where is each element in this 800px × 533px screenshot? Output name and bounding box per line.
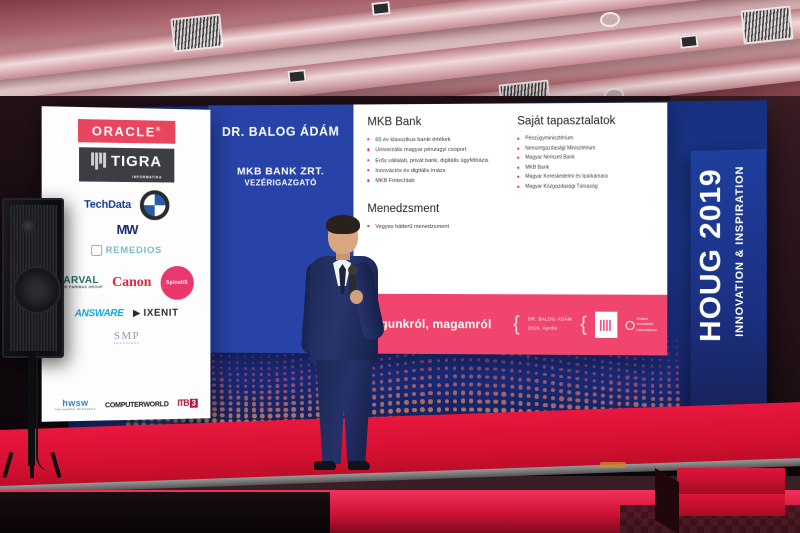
fintechlab-badge-text: Fintech Innovációs Laboratórium (637, 317, 657, 334)
sponsor-row-remedios: REMEDIOS (42, 245, 211, 256)
slide-footer-speaker: DR. BALOG ÁDÁM (528, 316, 572, 325)
speaker-trousers (316, 360, 372, 464)
houg-branding-panel: HOUG 2019 INNOVATION & INSPIRATION (691, 149, 766, 433)
woofer-icon (13, 266, 61, 314)
stage-step-upper (677, 468, 785, 494)
sponsor-row-arval-canon-spinalis: ARVAL BNP PARIBAS GROUP Canon SpinaliS (42, 266, 211, 300)
stage-steps (655, 468, 785, 530)
houg-title: HOUG 2019 (695, 168, 728, 342)
brace-icon: { (580, 313, 587, 336)
sponsor-row-answare-ixenit: ANSWARE IXENIT (42, 307, 211, 319)
oracle-label: ORACLE (92, 123, 156, 139)
sponsor-row-techdata-bmw: TechData (42, 189, 211, 220)
speaker-stand-pole (28, 356, 35, 466)
slide-speaker-organization: MKB BANK ZRT. (237, 164, 324, 178)
ceiling-downlight-icon (679, 34, 698, 49)
remedios-label: REMEDIOS (106, 245, 163, 256)
pa-loudspeaker (2, 198, 64, 358)
badge-line-3: Laboratórium (637, 328, 657, 334)
tigra-label: TIGRA (111, 153, 162, 171)
speaker-shoe (348, 461, 370, 470)
ceiling-downlight-icon (371, 1, 390, 16)
tweeter-icon (20, 218, 36, 234)
stage-step-side-panel (655, 468, 679, 533)
tigra-sub-label: INFORMATIKA (132, 175, 162, 179)
houg-subtitle: INNOVATION & INSPIRATION (734, 166, 746, 337)
list-item: Nemzetgazdasági Minisztérium (517, 144, 657, 154)
air-vent-icon (170, 13, 223, 52)
arval-sub-label: BNP PARIBAS GROUP (59, 286, 103, 290)
conference-stage-photo: DR. BALOG ÁDÁM MKB BANK ZRT. VEZÉRIGAZGA… (0, 0, 800, 533)
sponsor-logo-oracle: ORACLE® (78, 119, 176, 144)
sponsor-logo-answare: ANSWARE (75, 308, 124, 319)
section-heading-sajat-tapasztalatok: Saját tapasztalatok (517, 115, 657, 128)
speaker-hair (326, 215, 360, 234)
remedios-mark-icon (92, 245, 103, 256)
ceiling-downlight-icon (599, 11, 620, 28)
list-item: MKB Fintechlab (367, 176, 505, 187)
speaker-stand-legs (6, 452, 58, 478)
sponsor-logo-hwsw: hwsw Informatikai Hírmagazin (55, 399, 96, 412)
sponsor-logo-bmw (140, 190, 170, 220)
sponsor-logo-canon: Canon (112, 275, 151, 291)
brace-icon: { (513, 313, 520, 336)
list-item: Innovációs és digitális imázs (367, 166, 505, 177)
fintechlab-badge: Fintech Innovációs Laboratórium (625, 317, 657, 334)
section-heading-mkb-bank: MKB Bank (367, 116, 505, 129)
list-item: Magyar Közgazdasági Társaság (517, 182, 657, 192)
ceiling-downlight-icon (287, 69, 306, 84)
slide-content: MKB Bank 65 év klasszikus banki értékek … (353, 103, 667, 295)
gear-icon (625, 320, 634, 329)
air-vent-icon (740, 5, 793, 44)
bars-icon (92, 152, 106, 169)
list-item: Erős vállalati, privát bank, digitális ü… (367, 155, 505, 166)
section-heading-menedzsment: Menedzsment (367, 203, 505, 215)
speaker-shoe (314, 461, 336, 470)
sponsor-logo-ixenit: IXENIT (133, 308, 179, 319)
slide-column-right: Saját tapasztalatok Pénzügyminisztérium … (505, 115, 657, 295)
sponsor-logo-spinalis: SpinaliS (160, 266, 193, 300)
sponsor-logo-mw: MW (117, 222, 138, 237)
bullet-list-menedzsment: Vegyes hátterű menedzsment (367, 222, 505, 232)
mkb-logo-icon (595, 312, 617, 338)
sponsor-row-media: hwsw Informatikai Hírmagazin COMPUTERWOR… (42, 397, 211, 412)
speaker-person (300, 218, 386, 480)
bullet-list-sajat-tapasztalatok: Pénzügyminisztérium Nemzetgazdasági Mini… (517, 134, 657, 192)
ixenit-label: IXENIT (143, 308, 178, 319)
bullet-list-mkb-bank: 65 év klasszikus banki értékek Univerzál… (367, 135, 505, 187)
sponsor-logo-arval: ARVAL BNP PARIBAS GROUP (59, 276, 103, 290)
sponsor-row-mw: MW (42, 222, 211, 238)
hwsw-sub-label: Informatikai Hírmagazin (55, 408, 96, 412)
sponsor-logo-techdata: TechData (84, 199, 131, 211)
slide-speaker-name: DR. BALOG ÁDÁM (222, 125, 339, 139)
sponsor-logo-remedios: REMEDIOS (92, 245, 163, 256)
slide-footer-band: Magunkról, magamról { DR. BALOG ÁDÁM 201… (353, 294, 667, 356)
sponsor-logo-smp: SMP SOLUTIONS (114, 331, 141, 345)
list-item: Vegyes hátterű menedzsment (367, 222, 505, 232)
sponsor-logo-tigra: TIGRA INFORMATIKA (80, 147, 174, 182)
sponsor-logo-board: ORACLE® TIGRA INFORMATIKA TechData MW RE… (42, 106, 211, 422)
slide-footer-credits: DR. BALOG ÁDÁM 2019. Április (528, 316, 572, 334)
slide-footer-date: 2019. Április (528, 324, 572, 333)
floor-shadow (0, 492, 330, 533)
speaker-hand (350, 290, 363, 304)
sponsor-logo-computerworld: COMPUTERWORLD (105, 399, 169, 409)
presentation-slide: DR. BALOG ÁDÁM MKB BANK ZRT. VEZÉRIGAZGA… (208, 103, 667, 356)
registered-mark-icon: ® (156, 127, 162, 133)
list-item: Magyar Nemzeti Bank (517, 153, 657, 163)
list-item: 65 év klasszikus banki értékek (367, 135, 505, 146)
slide-column-left: MKB Bank 65 év klasszikus banki értékek … (367, 116, 505, 295)
itb-mark-icon: 3 (190, 398, 198, 407)
sponsor-logo-itb: ITB 3 (177, 398, 197, 408)
ixenit-mark-icon (133, 309, 141, 317)
stand-leg (30, 452, 34, 478)
list-item: Magyar Kereskedelmi és Iparkamara (517, 172, 657, 182)
stage-floor-object (600, 462, 626, 468)
list-item: Univerzális magyar pénzügyi csoport (367, 145, 505, 156)
list-item: MKB Bank (517, 163, 657, 173)
smp-sub-label: SOLUTIONS (114, 342, 141, 345)
slide-footer-meta: { DR. BALOG ÁDÁM 2019. Április { Fintech… (513, 311, 657, 338)
slide-speaker-role: VEZÉRIGAZGATÓ (244, 178, 316, 187)
sponsor-row-smp: SMP SOLUTIONS (42, 330, 211, 346)
itb-label: ITB (177, 398, 188, 408)
tigra-mark: TIGRA (92, 152, 162, 170)
list-item: Pénzügyminisztérium (517, 134, 657, 144)
